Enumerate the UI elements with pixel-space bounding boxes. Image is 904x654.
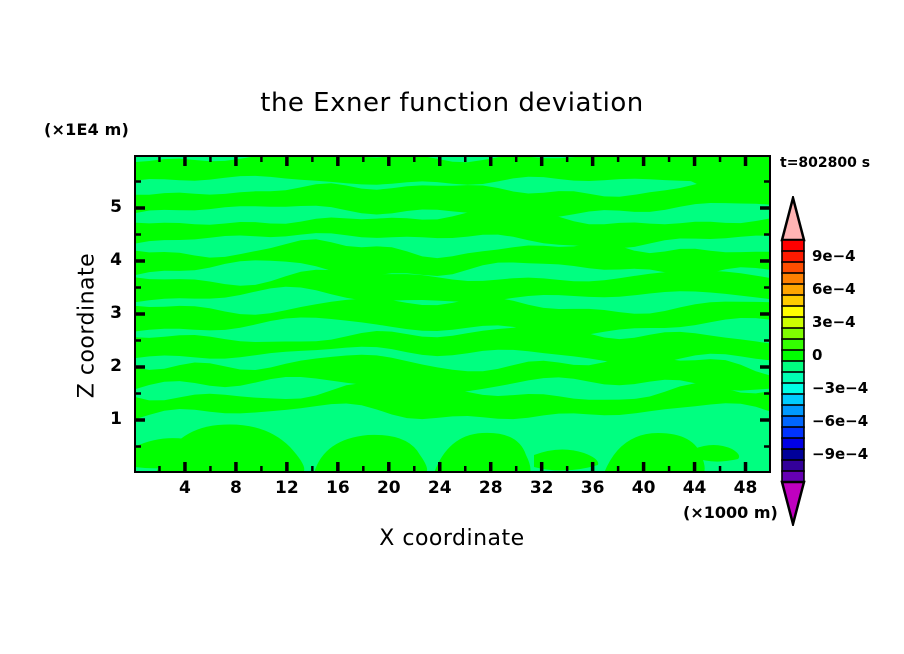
colorbar-band bbox=[782, 350, 804, 361]
colorbar-band bbox=[782, 328, 804, 339]
x-tick-label: 32 bbox=[522, 478, 562, 498]
y-axis-unit-label: (×1E4 m) bbox=[44, 120, 129, 139]
x-tick-label: 36 bbox=[573, 478, 613, 498]
y-tick-label: 1 bbox=[92, 409, 122, 429]
figure-canvas: the Exner function deviation (×1E4 m) t=… bbox=[0, 0, 904, 654]
colorbar-band bbox=[782, 427, 804, 438]
colorbar-upper-arrow bbox=[782, 198, 804, 240]
x-tick-label: 28 bbox=[471, 478, 511, 498]
x-tick-label: 24 bbox=[420, 478, 460, 498]
colorbar-tick-label: 9e−4 bbox=[812, 247, 856, 265]
y-tick-label: 2 bbox=[92, 356, 122, 376]
x-tick-label: 48 bbox=[726, 478, 766, 498]
x-tick-label: 8 bbox=[216, 478, 256, 498]
colorbar-band bbox=[782, 306, 804, 317]
colorbar-tick-label: −3e−4 bbox=[812, 379, 868, 397]
colorbar-band bbox=[782, 438, 804, 449]
x-tick-label: 16 bbox=[318, 478, 358, 498]
colorbar-lower-arrow bbox=[782, 482, 804, 524]
colorbar-band bbox=[782, 405, 804, 416]
x-axis-title: X coordinate bbox=[134, 526, 770, 551]
colorbar-band bbox=[782, 394, 804, 405]
colorbar-tick-label: 3e−4 bbox=[812, 313, 856, 331]
time-annotation: t=802800 s bbox=[780, 155, 870, 171]
colorbar-band bbox=[782, 416, 804, 427]
colorbar-band bbox=[782, 295, 804, 306]
colorbar-band bbox=[782, 262, 804, 273]
colorbar-band bbox=[782, 317, 804, 328]
colorbar-band bbox=[782, 383, 804, 394]
y-tick-label: 4 bbox=[92, 250, 122, 270]
colorbar-band bbox=[782, 273, 804, 284]
contour-plot-area bbox=[134, 155, 771, 473]
colorbar-band bbox=[782, 339, 804, 350]
page-title: the Exner function deviation bbox=[0, 88, 904, 118]
colorbar-band bbox=[782, 240, 804, 251]
colorbar-band bbox=[782, 372, 804, 383]
colorbar-band bbox=[782, 361, 804, 372]
y-tick-label: 5 bbox=[92, 197, 122, 217]
x-tick-label: 12 bbox=[267, 478, 307, 498]
colorbar-band bbox=[782, 449, 804, 460]
x-tick-label: 20 bbox=[369, 478, 409, 498]
y-tick-label: 3 bbox=[92, 303, 122, 323]
colorbar-band bbox=[782, 460, 804, 471]
colorbar-band bbox=[782, 284, 804, 295]
x-tick-label: 40 bbox=[624, 478, 664, 498]
x-axis-unit-label: (×1000 m) bbox=[683, 503, 778, 522]
colorbar-band bbox=[782, 251, 804, 262]
colorbar-band bbox=[782, 471, 804, 482]
x-tick-label: 44 bbox=[675, 478, 715, 498]
colorbar-tick-label: −9e−4 bbox=[812, 445, 868, 463]
colorbar-tick-label: 6e−4 bbox=[812, 280, 856, 298]
x-tick-label: 4 bbox=[165, 478, 205, 498]
colorbar-tick-label: 0 bbox=[812, 346, 822, 364]
colorbar-tick-label: −6e−4 bbox=[812, 412, 868, 430]
contour-bands bbox=[134, 155, 771, 473]
